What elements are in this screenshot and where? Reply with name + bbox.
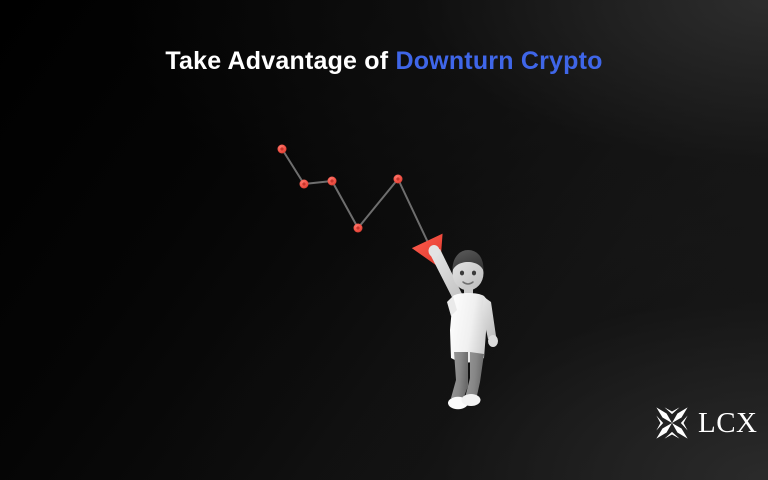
character-illustration <box>418 240 528 412</box>
character-lowered-hand <box>488 335 498 347</box>
chart-point-core-4 <box>356 226 359 229</box>
character-eye-left <box>460 271 464 276</box>
lcx-logo-text: LCX <box>698 409 758 438</box>
page-title: Take Advantage of Downturn Crypto <box>0 46 768 76</box>
chart-point-1 <box>278 145 287 154</box>
chart-data-points <box>278 145 403 233</box>
chart-point-2 <box>300 180 309 189</box>
chart-trend-line <box>282 149 440 268</box>
promo-banner: Take Advantage of Downturn Crypto <box>0 0 768 480</box>
title-plain-text: Take Advantage of <box>165 47 395 75</box>
chart-point-core-5 <box>396 177 399 180</box>
character-shoe-front <box>462 394 481 406</box>
character-leg-back <box>451 352 468 402</box>
title-accent-text: Downturn Crypto <box>395 47 602 75</box>
character-raised-hand <box>429 245 440 257</box>
lcx-star-mark-icon <box>655 406 689 440</box>
chart-point-4 <box>354 224 363 233</box>
chart-point-core-1 <box>280 147 283 150</box>
chart-point-3 <box>328 177 337 186</box>
chart-point-5 <box>394 175 403 184</box>
lcx-logo[interactable]: LCX <box>655 406 758 440</box>
chart-point-core-2 <box>302 182 305 185</box>
chart-point-core-3 <box>330 179 333 182</box>
character-eye-right <box>472 271 476 276</box>
